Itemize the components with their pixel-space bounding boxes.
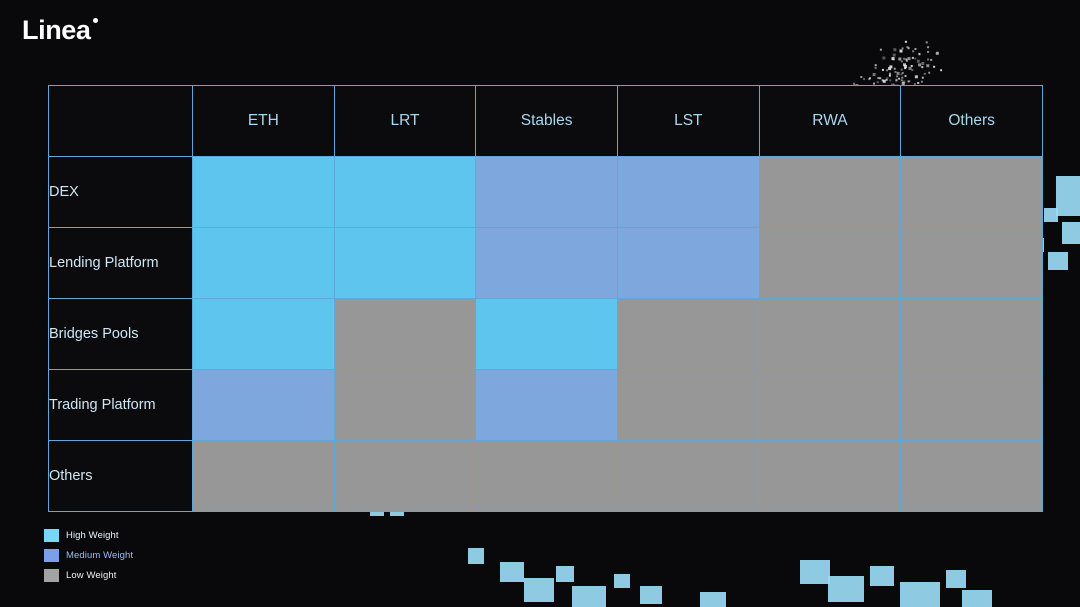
matrix-column-header-others: Others — [901, 86, 1043, 157]
matrix-cell — [334, 299, 476, 370]
matrix-cell — [193, 370, 335, 441]
matrix-cell — [193, 299, 335, 370]
matrix-cell — [901, 157, 1043, 228]
matrix-cell — [901, 228, 1043, 299]
matrix-row: Bridges Pools — [49, 299, 1043, 370]
legend-label-low: Low Weight — [66, 571, 116, 581]
legend-item-medium: Medium Weight — [44, 549, 133, 562]
matrix-cell — [759, 370, 901, 441]
legend-swatch-low — [44, 569, 59, 582]
matrix-cell — [759, 228, 901, 299]
matrix-column-header-lst: LST — [617, 86, 759, 157]
legend-swatch-medium — [44, 549, 59, 562]
matrix-cell — [476, 157, 618, 228]
matrix-column-header-lrt: LRT — [334, 86, 476, 157]
linea-logo: Linea — [22, 17, 98, 44]
matrix-row-label-lending-platform: Lending Platform — [49, 228, 193, 299]
matrix-cell — [193, 441, 335, 512]
matrix-cell — [901, 299, 1043, 370]
matrix-row: Lending Platform — [49, 228, 1043, 299]
matrix-header: ETHLRTStablesLSTRWAOthers — [49, 86, 1043, 157]
matrix-row: Trading Platform — [49, 370, 1043, 441]
matrix-cell — [476, 228, 618, 299]
matrix-cell — [476, 299, 618, 370]
matrix-cell — [334, 228, 476, 299]
logo-dot-icon — [93, 18, 98, 23]
matrix-cell — [617, 370, 759, 441]
legend-swatch-high — [44, 529, 59, 542]
matrix-cell — [759, 157, 901, 228]
matrix-column-header-stables: Stables — [476, 86, 618, 157]
matrix-cell — [617, 441, 759, 512]
matrix-cell — [193, 157, 335, 228]
matrix-corner-cell — [49, 86, 193, 157]
weight-matrix-table: ETHLRTStablesLSTRWAOthers DEXLending Pla… — [48, 85, 1043, 512]
matrix-cell — [193, 228, 335, 299]
matrix-header-row: ETHLRTStablesLSTRWAOthers — [49, 86, 1043, 157]
logo-wordmark: Linea — [22, 17, 91, 44]
slide-canvas: Linea ETHLRTStablesLSTRWAOthers DEXLendi… — [0, 0, 1080, 607]
matrix-cell — [476, 441, 618, 512]
matrix-row: Others — [49, 441, 1043, 512]
matrix-cell — [476, 370, 618, 441]
legend: High WeightMedium WeightLow Weight — [44, 529, 133, 582]
legend-label-medium: Medium Weight — [66, 551, 133, 561]
matrix-cell — [617, 157, 759, 228]
weight-matrix: ETHLRTStablesLSTRWAOthers DEXLending Pla… — [48, 85, 1043, 506]
matrix-cell — [334, 157, 476, 228]
matrix-cell — [617, 228, 759, 299]
matrix-cell — [334, 441, 476, 512]
legend-item-high: High Weight — [44, 529, 133, 542]
legend-label-high: High Weight — [66, 531, 119, 541]
matrix-cell — [901, 370, 1043, 441]
matrix-cell — [759, 299, 901, 370]
matrix-cell — [759, 441, 901, 512]
legend-item-low: Low Weight — [44, 569, 133, 582]
matrix-row-label-trading-platform: Trading Platform — [49, 370, 193, 441]
matrix-row: DEX — [49, 157, 1043, 228]
matrix-column-header-eth: ETH — [193, 86, 335, 157]
matrix-cell — [334, 370, 476, 441]
matrix-row-label-others: Others — [49, 441, 193, 512]
matrix-row-label-bridges-pools: Bridges Pools — [49, 299, 193, 370]
matrix-row-label-dex: DEX — [49, 157, 193, 228]
matrix-cell — [901, 441, 1043, 512]
matrix-body: DEXLending PlatformBridges PoolsTrading … — [49, 157, 1043, 512]
matrix-cell — [617, 299, 759, 370]
matrix-column-header-rwa: RWA — [759, 86, 901, 157]
